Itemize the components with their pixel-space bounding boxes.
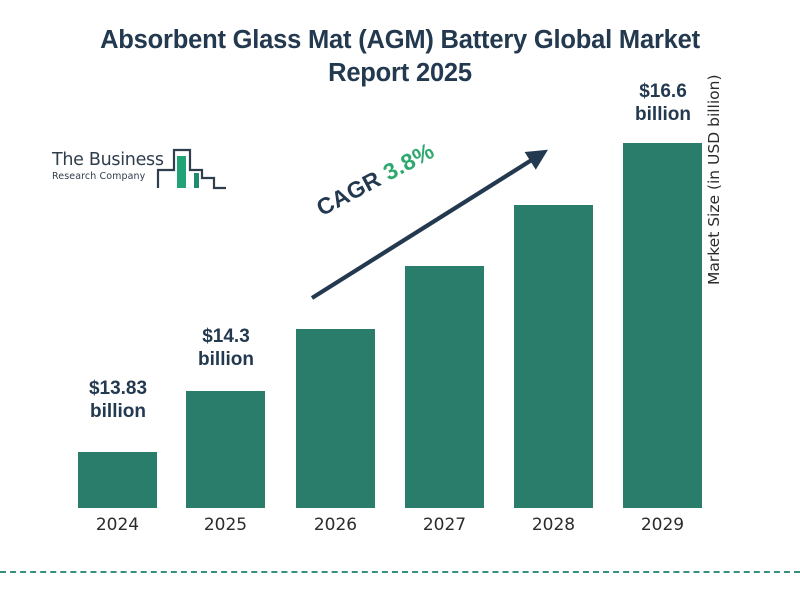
- bar-value-line1-2024: $13.83: [58, 377, 178, 400]
- x-tick-2024: 2024: [78, 515, 157, 535]
- bar-value-line2-2024: billion: [58, 400, 178, 423]
- bar-value-line2-2025: billion: [166, 348, 286, 371]
- x-tick-2028: 2028: [514, 515, 593, 535]
- x-tick-2029: 2029: [623, 515, 702, 535]
- cagr-arrow-icon: [300, 140, 560, 315]
- x-tick-2025: 2025: [186, 515, 265, 535]
- y-axis-title: Market Size (in USD billion): [705, 15, 723, 285]
- bar-value-label-2025: $14.3 billion $14.3 billion: [166, 325, 286, 371]
- bar-2026[interactable]: [296, 329, 375, 508]
- chart-canvas: Absorbent Glass Mat (AGM) Battery Global…: [0, 0, 800, 600]
- footer-divider: [0, 571, 800, 573]
- bar-value-line1-2025: $14.3: [166, 325, 286, 348]
- plot-area: $13.83 billion $13.83 billion $14.3 bill…: [0, 0, 800, 600]
- bar-2024[interactable]: [78, 452, 157, 508]
- x-tick-2026: 2026: [296, 515, 375, 535]
- x-tick-2027: 2027: [405, 515, 484, 535]
- bar-2025[interactable]: [186, 391, 265, 508]
- bar-2029[interactable]: [623, 143, 702, 508]
- bar-value-label-2024: $13.83 billion $13.83 billion: [58, 377, 178, 423]
